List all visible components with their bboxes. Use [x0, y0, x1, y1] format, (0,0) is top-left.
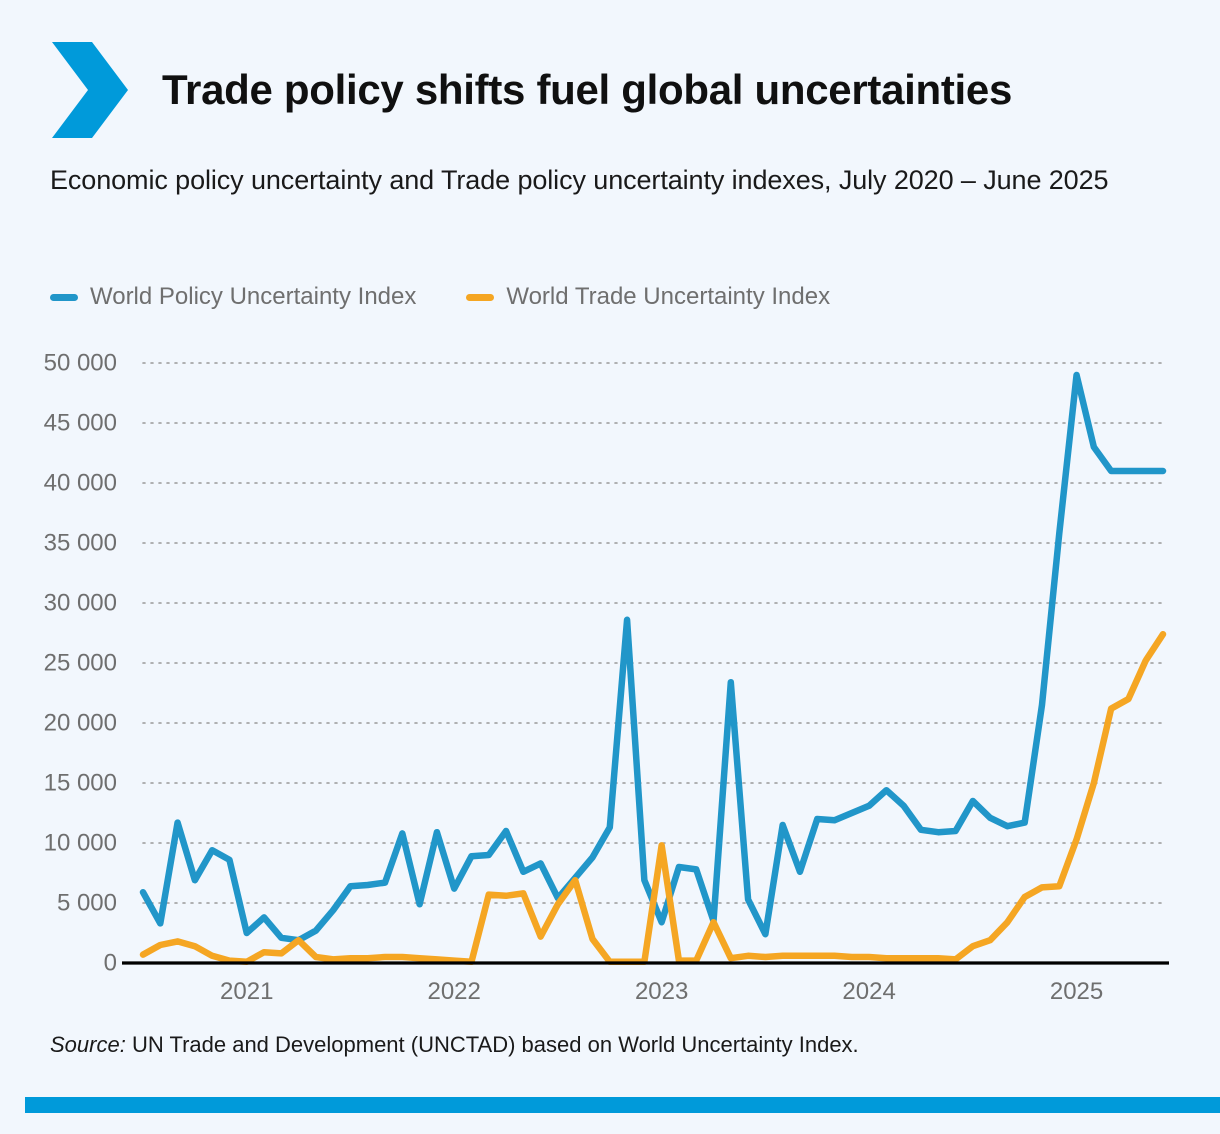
page-title: Trade policy shifts fuel global uncertai…	[162, 69, 1012, 111]
y-axis-tick-label: 20 000	[44, 709, 117, 736]
series-layer	[143, 375, 1163, 962]
bottom-accent-bar	[25, 1097, 1220, 1113]
y-axis-tick-label: 35 000	[44, 529, 117, 556]
y-axis-tick-label: 45 000	[44, 409, 117, 436]
y-axis-tick-label: 30 000	[44, 589, 117, 616]
series-line-world-policy-uncertainty-index	[143, 375, 1163, 940]
source-note: Source: UN Trade and Development (UNCTAD…	[50, 1032, 859, 1058]
chart-subtitle: Economic policy uncertainty and Trade po…	[50, 163, 1120, 199]
legend-swatch-policy	[50, 294, 78, 301]
legend-item-policy[interactable]: World Policy Uncertainty Index	[50, 283, 416, 311]
header: Trade policy shifts fuel global uncertai…	[50, 40, 1012, 140]
y-axis-labels: 05 00010 00015 00020 00025 00030 00035 0…	[44, 349, 117, 976]
chart-canvas: 05 00010 00015 00020 00025 00030 00035 0…	[0, 340, 1220, 1010]
y-axis-tick-label: 5 000	[57, 889, 117, 916]
x-axis-tick-label: 2024	[842, 978, 895, 1005]
legend-item-trade[interactable]: World Trade Uncertainty Index	[466, 283, 830, 311]
x-axis-tick-label: 2025	[1050, 978, 1103, 1005]
source-label: Source:	[50, 1032, 126, 1057]
x-axis-tick-label: 2022	[427, 978, 480, 1005]
infographic-page: Trade policy shifts fuel global uncertai…	[0, 0, 1220, 1134]
y-axis-tick-label: 25 000	[44, 649, 117, 676]
y-axis-tick-label: 0	[104, 949, 117, 976]
chart-legend: World Policy Uncertainty Index World Tra…	[50, 283, 830, 311]
source-text: UN Trade and Development (UNCTAD) based …	[132, 1032, 859, 1057]
y-axis-tick-label: 10 000	[44, 829, 117, 856]
legend-label-trade: World Trade Uncertainty Index	[506, 283, 830, 311]
line-chart: 05 00010 00015 00020 00025 00030 00035 0…	[0, 340, 1220, 1010]
chevron-right-icon	[50, 40, 130, 140]
legend-swatch-trade	[466, 294, 494, 301]
x-axis-tick-label: 2023	[635, 978, 688, 1005]
grid-layer	[143, 363, 1163, 903]
x-axis-tick-label: 2021	[220, 978, 273, 1005]
y-axis-tick-label: 15 000	[44, 769, 117, 796]
x-axis-labels: 20212022202320242025	[220, 978, 1103, 1005]
y-axis-tick-label: 50 000	[44, 349, 117, 376]
series-line-world-trade-uncertainty-index	[143, 634, 1163, 962]
legend-label-policy: World Policy Uncertainty Index	[90, 283, 416, 311]
y-axis-tick-label: 40 000	[44, 469, 117, 496]
